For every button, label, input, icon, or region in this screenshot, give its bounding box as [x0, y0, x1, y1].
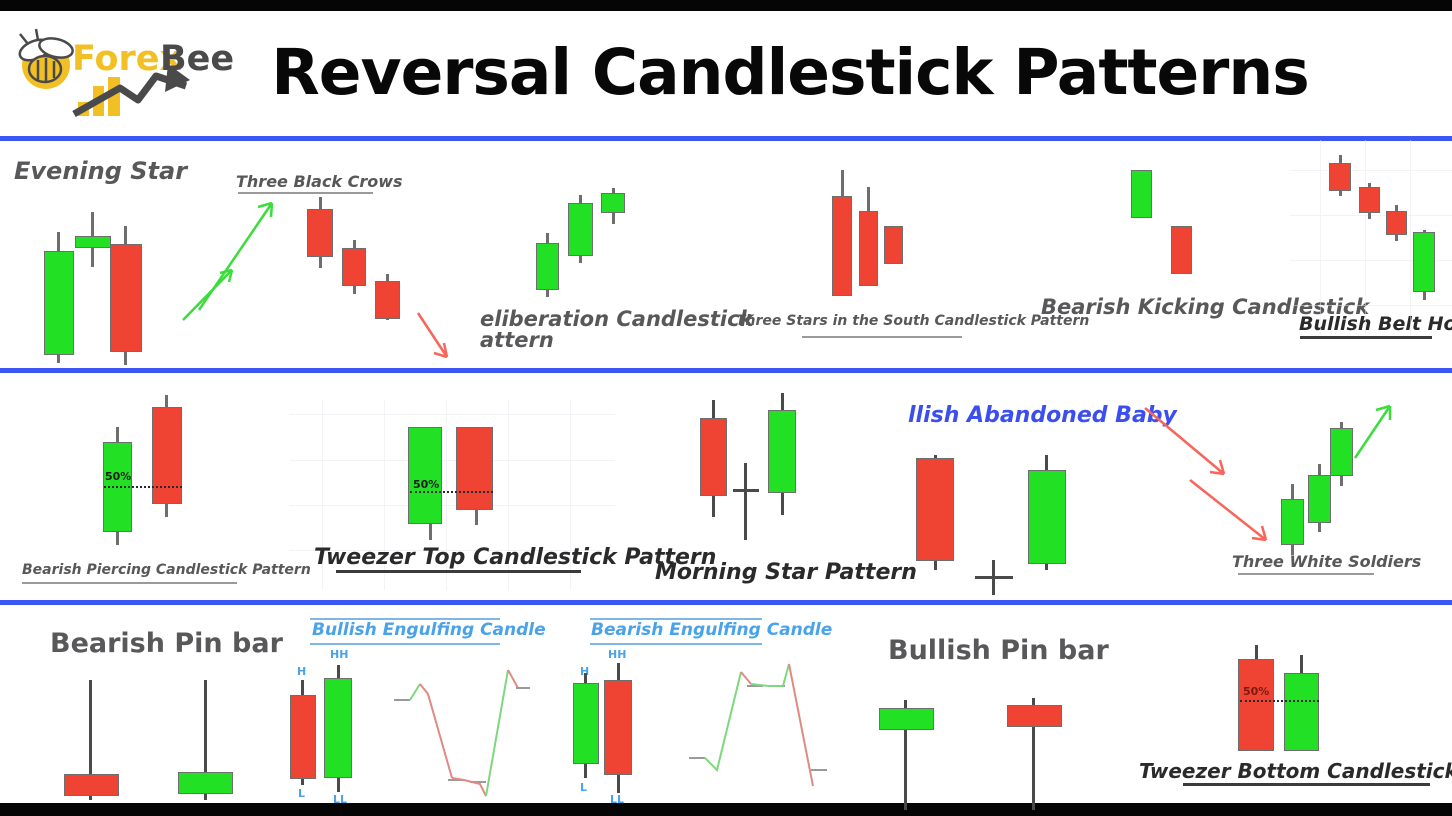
- candle-body-bearish: [1171, 226, 1192, 274]
- price-action-zigzag: [685, 658, 835, 808]
- candle-body-bearish: [1359, 187, 1380, 213]
- candle-body-bullish: [75, 236, 111, 248]
- midpoint-line: [104, 486, 182, 488]
- row-divider-3: [0, 600, 1452, 605]
- candle-body-bearish: [859, 211, 878, 286]
- candle-body-bullish: [573, 683, 599, 764]
- infographic-canvas: Forex Bee Reversal Candlestick Patterns …: [0, 0, 1452, 816]
- marker-hh: HH: [330, 648, 348, 661]
- candle-body-bearish: [290, 695, 316, 779]
- marker-ll: LL: [333, 793, 347, 806]
- candle-body-bullish: [44, 251, 74, 355]
- candle-body-bearish: [1386, 211, 1407, 235]
- candle-body-bullish: [178, 772, 233, 794]
- label-evening-star: Evening Star: [14, 157, 187, 185]
- candle-body-bearish: [1007, 705, 1062, 727]
- candle-body-bullish: [568, 203, 593, 256]
- marker-l: L: [580, 781, 587, 794]
- candle-body-bullish: [324, 678, 352, 778]
- wick: [744, 463, 747, 540]
- label-bearish-piercing: Bearish Piercing Candlestick Pattern: [22, 562, 311, 578]
- label-bullish-abandoned-baby: llish Abandoned Baby: [908, 403, 1177, 428]
- candle-body-bullish: [408, 427, 442, 524]
- candle-body-bullish: [768, 410, 796, 493]
- midpoint-line: [410, 491, 493, 493]
- midpoint-label: 50%: [1243, 685, 1269, 698]
- label-underline: [22, 582, 237, 584]
- row-divider-1: [0, 136, 1452, 141]
- candle-body-bearish: [64, 774, 119, 796]
- candle-body-bullish: [1284, 673, 1319, 751]
- label-underline: [1300, 336, 1432, 339]
- marker-ll: LL: [610, 793, 624, 806]
- price-action-zigzag: [390, 658, 535, 808]
- candle-body-bearish: [456, 427, 493, 510]
- candle-body-doji: [975, 576, 1013, 579]
- candle-body-bullish: [601, 193, 625, 213]
- label-tweezer-bottom: Tweezer Bottom Candlestick Pattern: [1139, 759, 1452, 783]
- candle-body-bearish: [152, 407, 182, 504]
- midpoint-label: 50%: [413, 478, 439, 491]
- candle-body-bullish: [879, 708, 934, 730]
- label-bullish-engulfing: Bullish Engulfing Candle: [312, 620, 546, 640]
- candle-body-bearish: [342, 248, 366, 286]
- candle-body-bearish: [604, 680, 632, 775]
- midpoint-label: 50%: [105, 470, 131, 483]
- midpoint-line: [1240, 700, 1319, 702]
- candle-body-doji: [733, 489, 759, 492]
- candle-body-bullish: [1413, 232, 1435, 292]
- marker-hh: HH: [608, 648, 626, 661]
- candle-body-bearish: [832, 196, 852, 296]
- label-underline: [310, 643, 500, 645]
- candle-body-bullish: [1330, 428, 1353, 476]
- candle-body-bearish: [884, 226, 903, 264]
- forexbee-logo: Forex Bee: [8, 22, 233, 117]
- candle-body-bullish: [1131, 170, 1152, 218]
- candle-body-bearish: [1329, 163, 1351, 191]
- label-bullish-pin-bar: Bullish Pin bar: [888, 635, 1109, 666]
- candle-body-bearish: [700, 418, 727, 496]
- candle-body-bearish: [916, 458, 954, 561]
- marker-h: H: [297, 665, 306, 678]
- top-frame-bar: [0, 0, 1452, 11]
- label-morning-star: Morning Star Pattern: [655, 560, 917, 585]
- label-underline: [336, 570, 581, 573]
- candle-body-bullish: [1028, 470, 1066, 564]
- page-title: Reversal Candlestick Patterns: [250, 36, 1330, 109]
- candle-body-bearish: [375, 281, 400, 319]
- label-bearish-pin-bar: Bearish Pin bar: [50, 628, 283, 659]
- candle-body-bearish: [307, 209, 333, 257]
- label-bearish-engulfing: Bearish Engulfing Candle: [591, 620, 832, 640]
- label-underline: [802, 336, 962, 338]
- label-underline: [590, 643, 762, 645]
- label-underline: [1183, 783, 1430, 786]
- label-three-stars-south: Three Stars in the South Candlestick Pat…: [736, 313, 1089, 329]
- candle-body-bullish: [1281, 499, 1304, 545]
- trend-arrows: [1140, 398, 1410, 578]
- candle-body-bullish: [536, 243, 559, 290]
- label-deliberation-line2: attern: [480, 328, 554, 352]
- candle-body-bearish: [1238, 659, 1274, 751]
- marker-l: L: [298, 787, 305, 800]
- candle-body-bearish: [110, 244, 142, 352]
- candle-body-bullish: [1308, 475, 1331, 523]
